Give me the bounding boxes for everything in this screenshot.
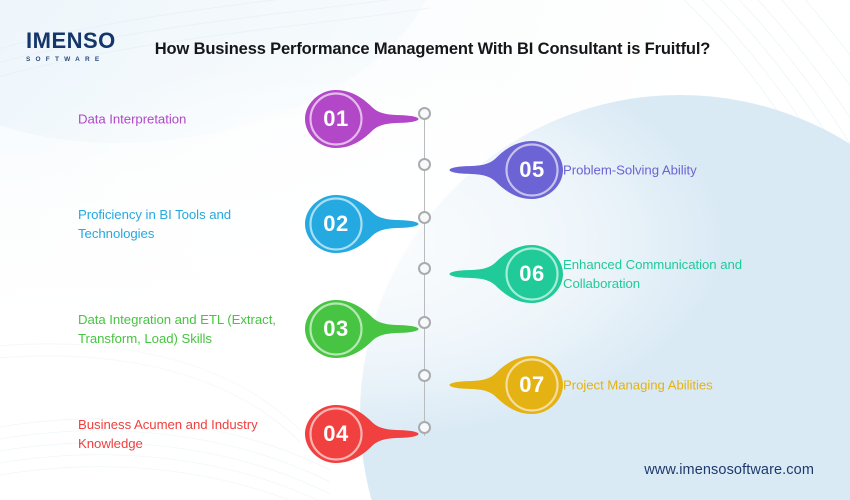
logo: IMENSO SOFTWARE: [26, 30, 146, 63]
website-url: www.imensosoftware.com: [644, 462, 814, 478]
timeline-node-07: [418, 369, 431, 382]
step-label-06: Enhanced Communication and Collaboration: [563, 255, 813, 293]
infographic-poster: IMENSO SOFTWARE How Business Performance…: [0, 0, 850, 500]
step-badge-04[interactable]: 04: [303, 401, 425, 467]
step-number-04: 04: [303, 401, 369, 467]
step-label-01: Data Interpretation: [78, 109, 308, 128]
logo-subtext: SOFTWARE: [26, 56, 146, 63]
timeline-node-03: [418, 316, 431, 329]
timeline-node-05: [418, 158, 431, 171]
step-label-04: Business Acumen and Industry Knowledge: [78, 415, 308, 453]
timeline-node-04: [418, 421, 431, 434]
step-label-02: Proficiency in BI Tools and Technologies: [78, 205, 308, 243]
timeline-node-06: [418, 262, 431, 275]
step-label-07: Project Managing Abilities: [563, 375, 813, 394]
step-label-03: Data Integration and ETL (Extract, Trans…: [78, 310, 308, 348]
timeline-item-04[interactable]: 04Business Acumen and Industry Knowledge: [0, 401, 850, 467]
timeline-node-02: [418, 211, 431, 224]
page-title: How Business Performance Management With…: [150, 38, 715, 61]
step-label-05: Problem-Solving Ability: [563, 160, 813, 179]
timeline-node-01: [418, 107, 431, 120]
logo-wordmark: IMENSO: [26, 30, 146, 52]
